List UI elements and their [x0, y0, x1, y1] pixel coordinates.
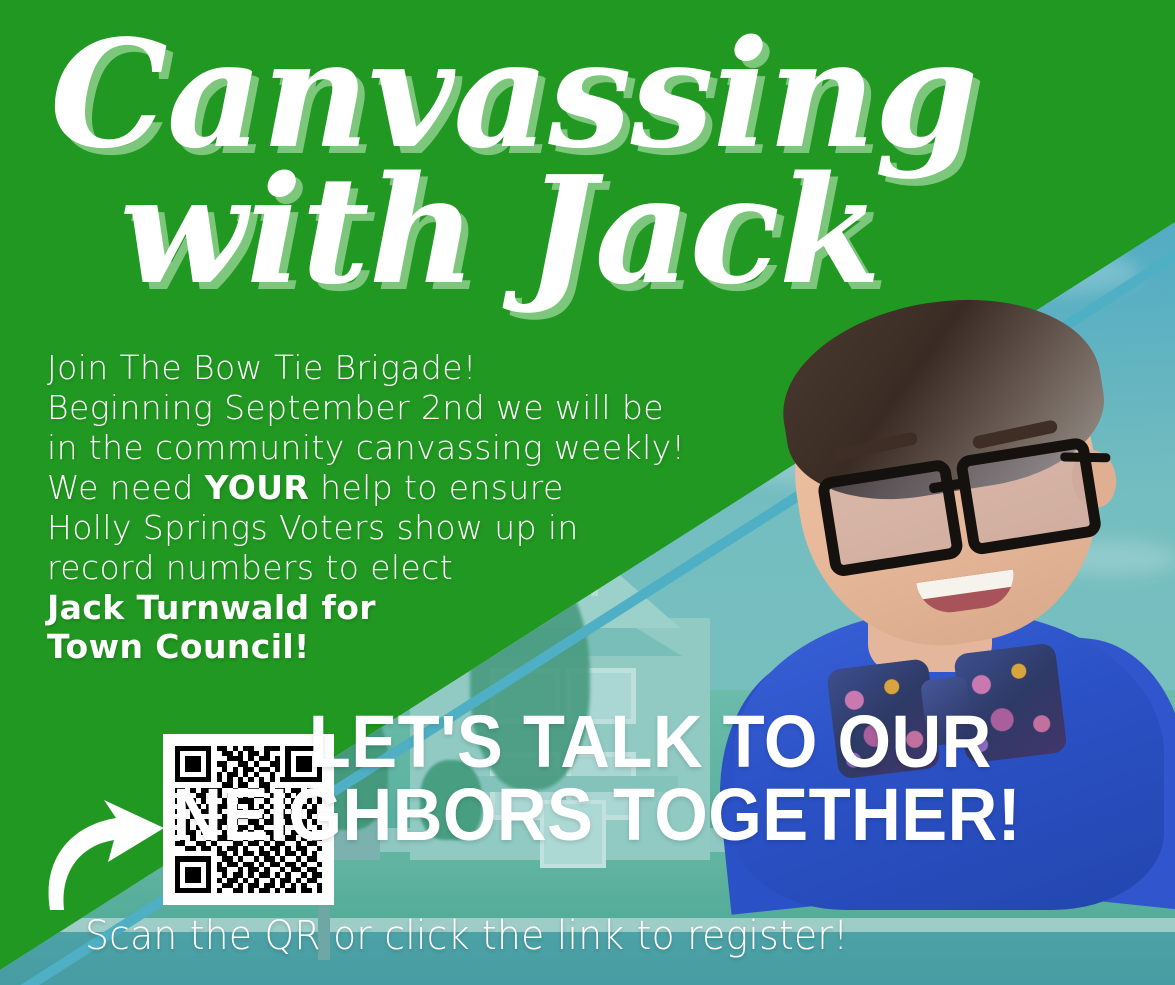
need-suffix: help to ensure — [309, 468, 563, 507]
candidate-office: Town Council! — [47, 627, 707, 667]
body-line-1: Join The Bow Tie Brigade! — [47, 348, 707, 388]
page-title: Canvassing with Jack — [50, 26, 1060, 298]
body-copy: Join The Bow Tie Brigade! Beginning Sept… — [47, 348, 707, 667]
body-line-5: Holly Springs Voters show up in — [47, 508, 707, 548]
title-line-2: with Jack — [50, 162, 1060, 298]
need-emphasis: YOUR — [205, 468, 310, 507]
headline: LET'S TALK TO OUR NEIGHBORS TOGETHER! — [41, 706, 1134, 851]
title-line-1: Canvassing — [50, 26, 1060, 162]
scan-cta-text: Scan the QR or click the link to registe… — [85, 913, 849, 959]
body-line-2: Beginning September 2nd we will be — [47, 388, 707, 428]
candidate-name: Jack Turnwald for — [47, 588, 707, 628]
headline-line-1: LET'S TALK TO OUR — [41, 706, 1134, 779]
body-line-3: in the community canvassing weekly! — [47, 428, 707, 468]
need-prefix: We need — [47, 468, 205, 507]
body-line-4: We need YOUR help to ensure — [47, 468, 707, 508]
body-line-6: record numbers to elect — [47, 548, 707, 588]
campaign-flyer: Canvassing with Jack Join The Bow Tie Br… — [0, 0, 1175, 985]
headline-line-2: NEIGHBORS TOGETHER! — [41, 779, 1134, 852]
